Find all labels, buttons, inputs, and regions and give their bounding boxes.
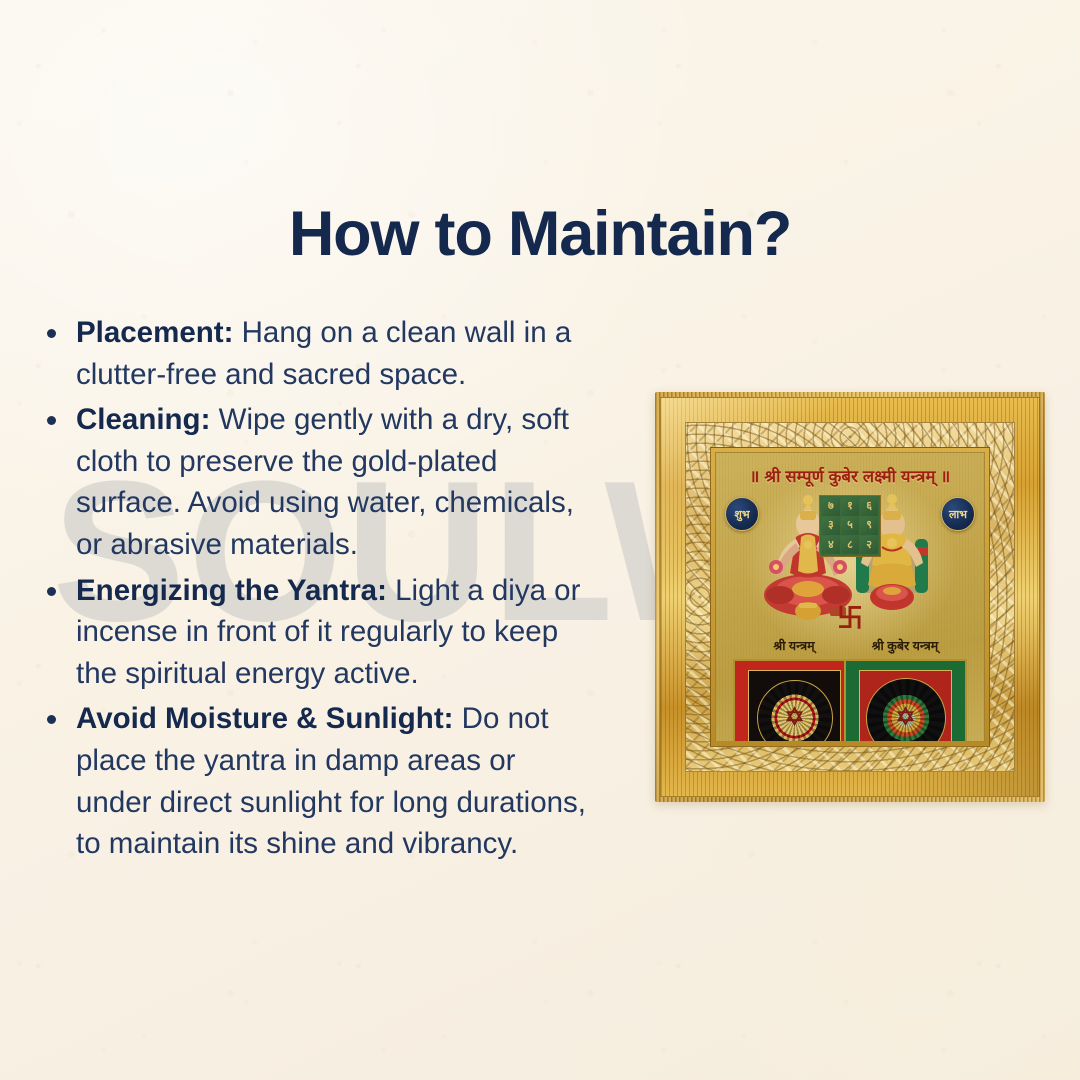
bullet-dot-icon bbox=[47, 715, 56, 724]
yantra-poster-title: ॥ श्री सम्पूर्ण कुबेर लक्ष्मी यन्त्रम् ॥ bbox=[716, 464, 984, 487]
kubera-yantra-caption: श्री कुबेर यन्त्रम् bbox=[838, 637, 972, 654]
sri-yantra-caption: श्री यन्त्रम् bbox=[734, 637, 854, 654]
list-item-term: Avoid Moisture & Sunlight: bbox=[76, 702, 453, 735]
list-item-term: Placement: bbox=[76, 316, 233, 349]
kubera-yantra-panel: ✡ bbox=[844, 659, 967, 742]
sri-yantra-panel: ✡ bbox=[733, 659, 856, 742]
bullet-dot-icon bbox=[47, 587, 56, 596]
magic-cell: ४ bbox=[822, 536, 840, 554]
swastika-icon: 卐 bbox=[837, 605, 863, 631]
kubera-yantra-star-symbol: ✡ bbox=[891, 703, 921, 733]
yantra-poster: ॥ श्री सम्पूर्ण कुबेर लक्ष्मी यन्त्रम् ॥… bbox=[715, 452, 985, 742]
magic-cell: २ bbox=[860, 536, 878, 554]
magic-cell: ३ bbox=[822, 517, 840, 535]
magic-cell: ५ bbox=[841, 517, 859, 535]
magic-cell: १ bbox=[841, 498, 859, 516]
list-item-term: Energizing the Yantra: bbox=[76, 574, 387, 607]
shubh-badge: शुभ bbox=[725, 497, 759, 531]
page-title: How to Maintain? bbox=[0, 198, 1080, 270]
product-image-framed-yantra: ॥ श्री सम्पूर्ण कुबेर लक्ष्मी यन्त्रम् ॥… bbox=[655, 392, 1045, 802]
list-item: Avoid Moisture & Sunlight: Do not place … bbox=[38, 698, 598, 864]
infographic-canvas: SOULW How to Maintain? Placement: Hang o… bbox=[0, 0, 1080, 1080]
magic-cell: ६ bbox=[860, 498, 878, 516]
list-item-term: Cleaning: bbox=[76, 403, 210, 436]
magic-cell: ८ bbox=[841, 536, 859, 554]
bullet-dot-icon bbox=[47, 416, 56, 425]
maintenance-list: Placement: Hang on a clean wall in a clu… bbox=[38, 312, 598, 869]
bullet-dot-icon bbox=[47, 329, 56, 338]
list-item: Placement: Hang on a clean wall in a clu… bbox=[38, 312, 598, 395]
labh-badge: लाभ bbox=[941, 497, 975, 531]
magic-square-grid: ७ १ ६ ३ ५ ९ ४ ८ २ bbox=[819, 495, 881, 557]
magic-cell: ७ bbox=[822, 498, 840, 516]
magic-cell: ९ bbox=[860, 517, 878, 535]
list-item: Cleaning: Wipe gently with a dry, soft c… bbox=[38, 399, 598, 565]
sri-yantra-star-symbol: ✡ bbox=[780, 703, 810, 733]
list-item: Energizing the Yantra: Light a diya or i… bbox=[38, 570, 598, 695]
